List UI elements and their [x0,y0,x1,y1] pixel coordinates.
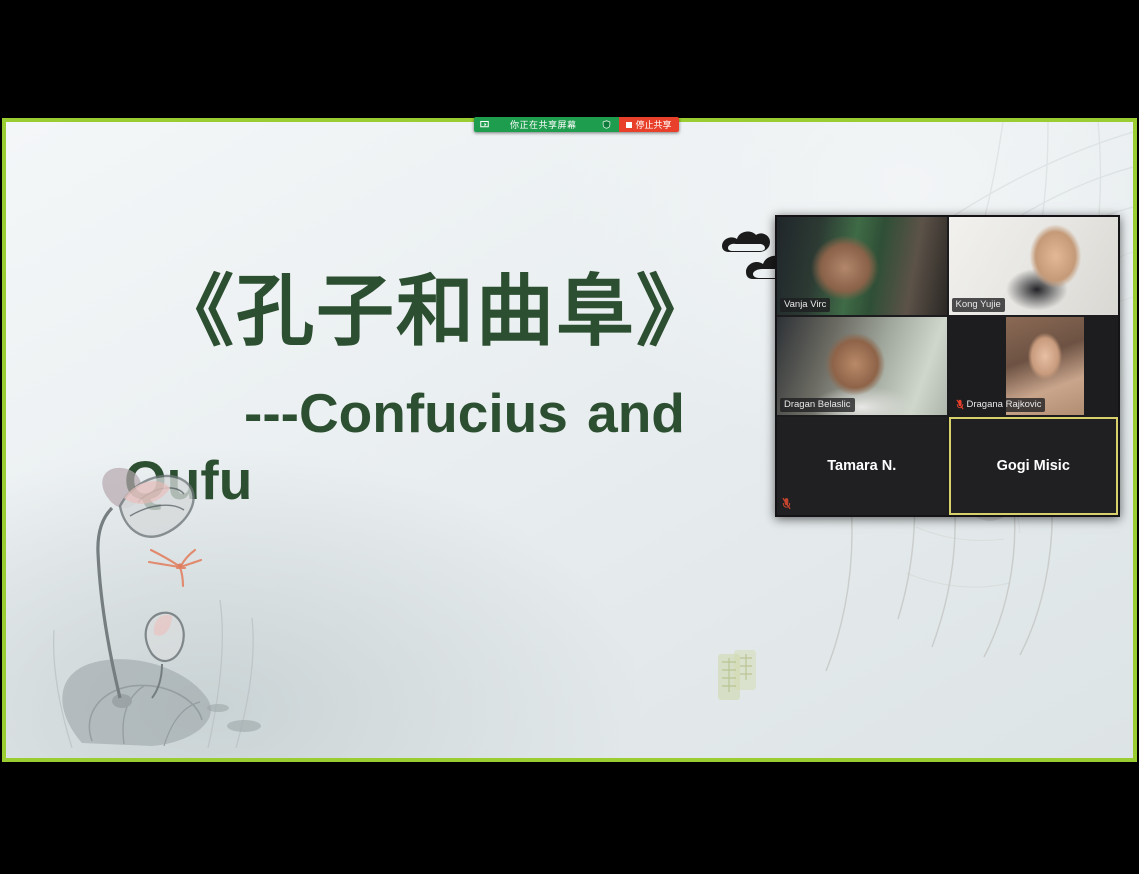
participant-name-badge: Dragana Rajkovic [952,398,1046,412]
dragonfly-decoration [139,538,209,588]
mic-muted-icon [782,497,791,510]
participant-video-grid[interactable]: Vanja Virc Kong Yujie Dragan Belaslic [775,215,1120,517]
participant-tile-kong-yujie[interactable]: Kong Yujie [949,217,1119,315]
participant-name: Vanja Virc [784,299,826,310]
stop-share-label: 停止共享 [636,118,672,131]
participant-tile-gogi-misic[interactable]: Gogi Misic [949,417,1119,515]
participant-tile-dragan-belaslic[interactable]: Dragan Belaslic [777,317,947,415]
participant-tile-tamara-n[interactable]: Tamara N. [777,417,947,515]
mic-muted-icon [956,399,964,410]
slide-title-chinese: 《孔子和曲阜》 [6,272,746,354]
shield-icon[interactable] [602,120,611,129]
screen-share-icon [480,120,489,129]
seal-stamp-decoration [716,650,758,704]
participant-tile-dragana-rajkovic[interactable]: Dragana Rajkovic [949,317,1119,415]
participant-name-badge: Dragan Belaslic [780,398,855,412]
participant-name-badge: Kong Yujie [952,298,1005,312]
participant-name: Dragan Belaslic [784,399,851,410]
share-status-text: 你正在共享屏幕 [496,118,595,131]
participant-name: Kong Yujie [956,299,1001,310]
zoom-share-toolbar[interactable]: 你正在共享屏幕 停止共享 [474,117,679,132]
participant-name: Tamara N. [777,417,947,515]
participant-name: Gogi Misic [949,417,1119,515]
participant-tile-vanja-virc[interactable]: Vanja Virc [777,217,947,315]
participant-name-badge: Vanja Virc [780,298,830,312]
stop-share-button[interactable]: 停止共享 [619,117,679,132]
ink-lotus-decoration [12,458,312,748]
stop-square-icon [626,122,632,128]
share-status-indicator: 你正在共享屏幕 [474,117,619,132]
participant-name: Dragana Rajkovic [967,399,1042,410]
slide-subtitle-line1: ---Confucius and [124,380,746,447]
screen-root: 《孔子和曲阜》 ---Confucius and Qufu [0,0,1139,874]
